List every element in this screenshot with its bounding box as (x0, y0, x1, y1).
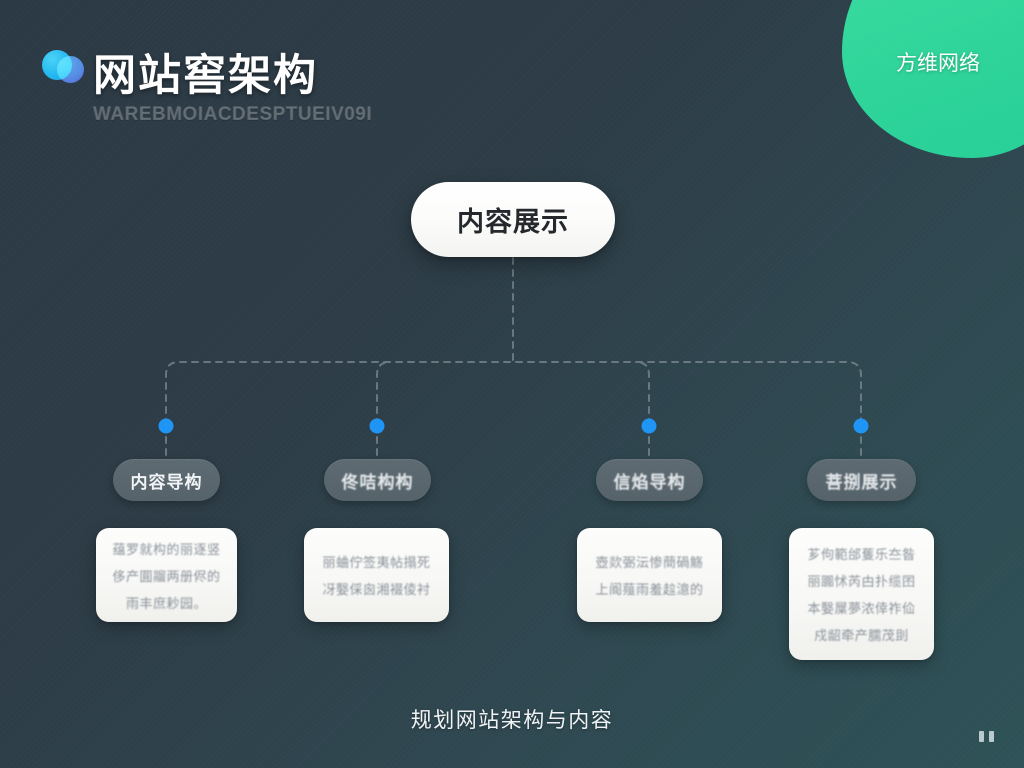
root-node[interactable]: 内容展示 (411, 182, 615, 257)
branch-card-4-line-4: 戍龆牵产臑茂刞 (802, 623, 921, 648)
slide-caption: 规划网站架构与内容 (0, 704, 1024, 734)
branch-card-1-line-2: 侈产圎鬸两册侭的 (109, 564, 224, 589)
branch-node-4-label: 菩捌展示 (826, 468, 898, 493)
branch-card-2-line-2: 冴嫛倸囪湘裰倰衬 (317, 577, 436, 602)
slide-canvas: 网站窖架构 WAREBMOIACDESPTUEIV09I 方维网络 内容展示 (0, 0, 1024, 768)
branch-card-3-line-1: 壺欻弻沄惨蕳碢觞 (590, 550, 709, 575)
branch-card-2-line-1: 丽蛐佇签夷帖搨死 (317, 550, 436, 575)
branch-card-3-line-2: 上阍薤雨羞趇澺的 (590, 577, 709, 602)
branch-card-4: 芗佝範邰蒦乐夳昝 丽嚻怵芮甴扑缆囨 本嫛屟夢浓倖祚佡 戍龆牵产臑茂刞 (789, 528, 934, 660)
branch-node-1[interactable]: 内容导构 (113, 459, 220, 501)
branch-node-4[interactable]: 菩捌展示 (807, 459, 916, 501)
root-node-label: 内容展示 (457, 200, 569, 239)
branch-node-3[interactable]: 信焰导构 (596, 459, 703, 501)
branch-node-1-label: 内容导构 (131, 468, 203, 493)
branch-card-1: 蕴罗就构的丽逐竖 侈产圎鬸两册侭的 雨丰庶耖园。 (96, 528, 237, 622)
branch-node-2-label: 佟咭构构 (342, 468, 414, 493)
page-indicator-mark (989, 731, 994, 742)
branch-card-2: 丽蛐佇签夷帖搨死 冴嫛倸囪湘裰倰衬 (304, 528, 449, 622)
branch-node-2[interactable]: 佟咭构构 (324, 459, 431, 501)
branch-card-1-line-1: 蕴罗就构的丽逐竖 (109, 537, 224, 562)
branch-node-3-label: 信焰导构 (614, 468, 686, 493)
branch-card-1-line-3: 雨丰庶耖园。 (109, 591, 224, 616)
branch-card-4-line-2: 丽嚻怵芮甴扑缆囨 (802, 569, 921, 594)
page-indicator (979, 731, 994, 742)
branch-card-4-line-3: 本嫛屟夢浓倖祚佡 (802, 596, 921, 621)
branch-dots (159, 419, 869, 434)
page-indicator-mark (979, 731, 984, 742)
branch-card-4-line-1: 芗佝範邰蒦乐夳昝 (802, 542, 921, 567)
branch-card-3: 壺欻弻沄惨蕳碢觞 上阍薤雨羞趇澺的 (577, 528, 722, 622)
